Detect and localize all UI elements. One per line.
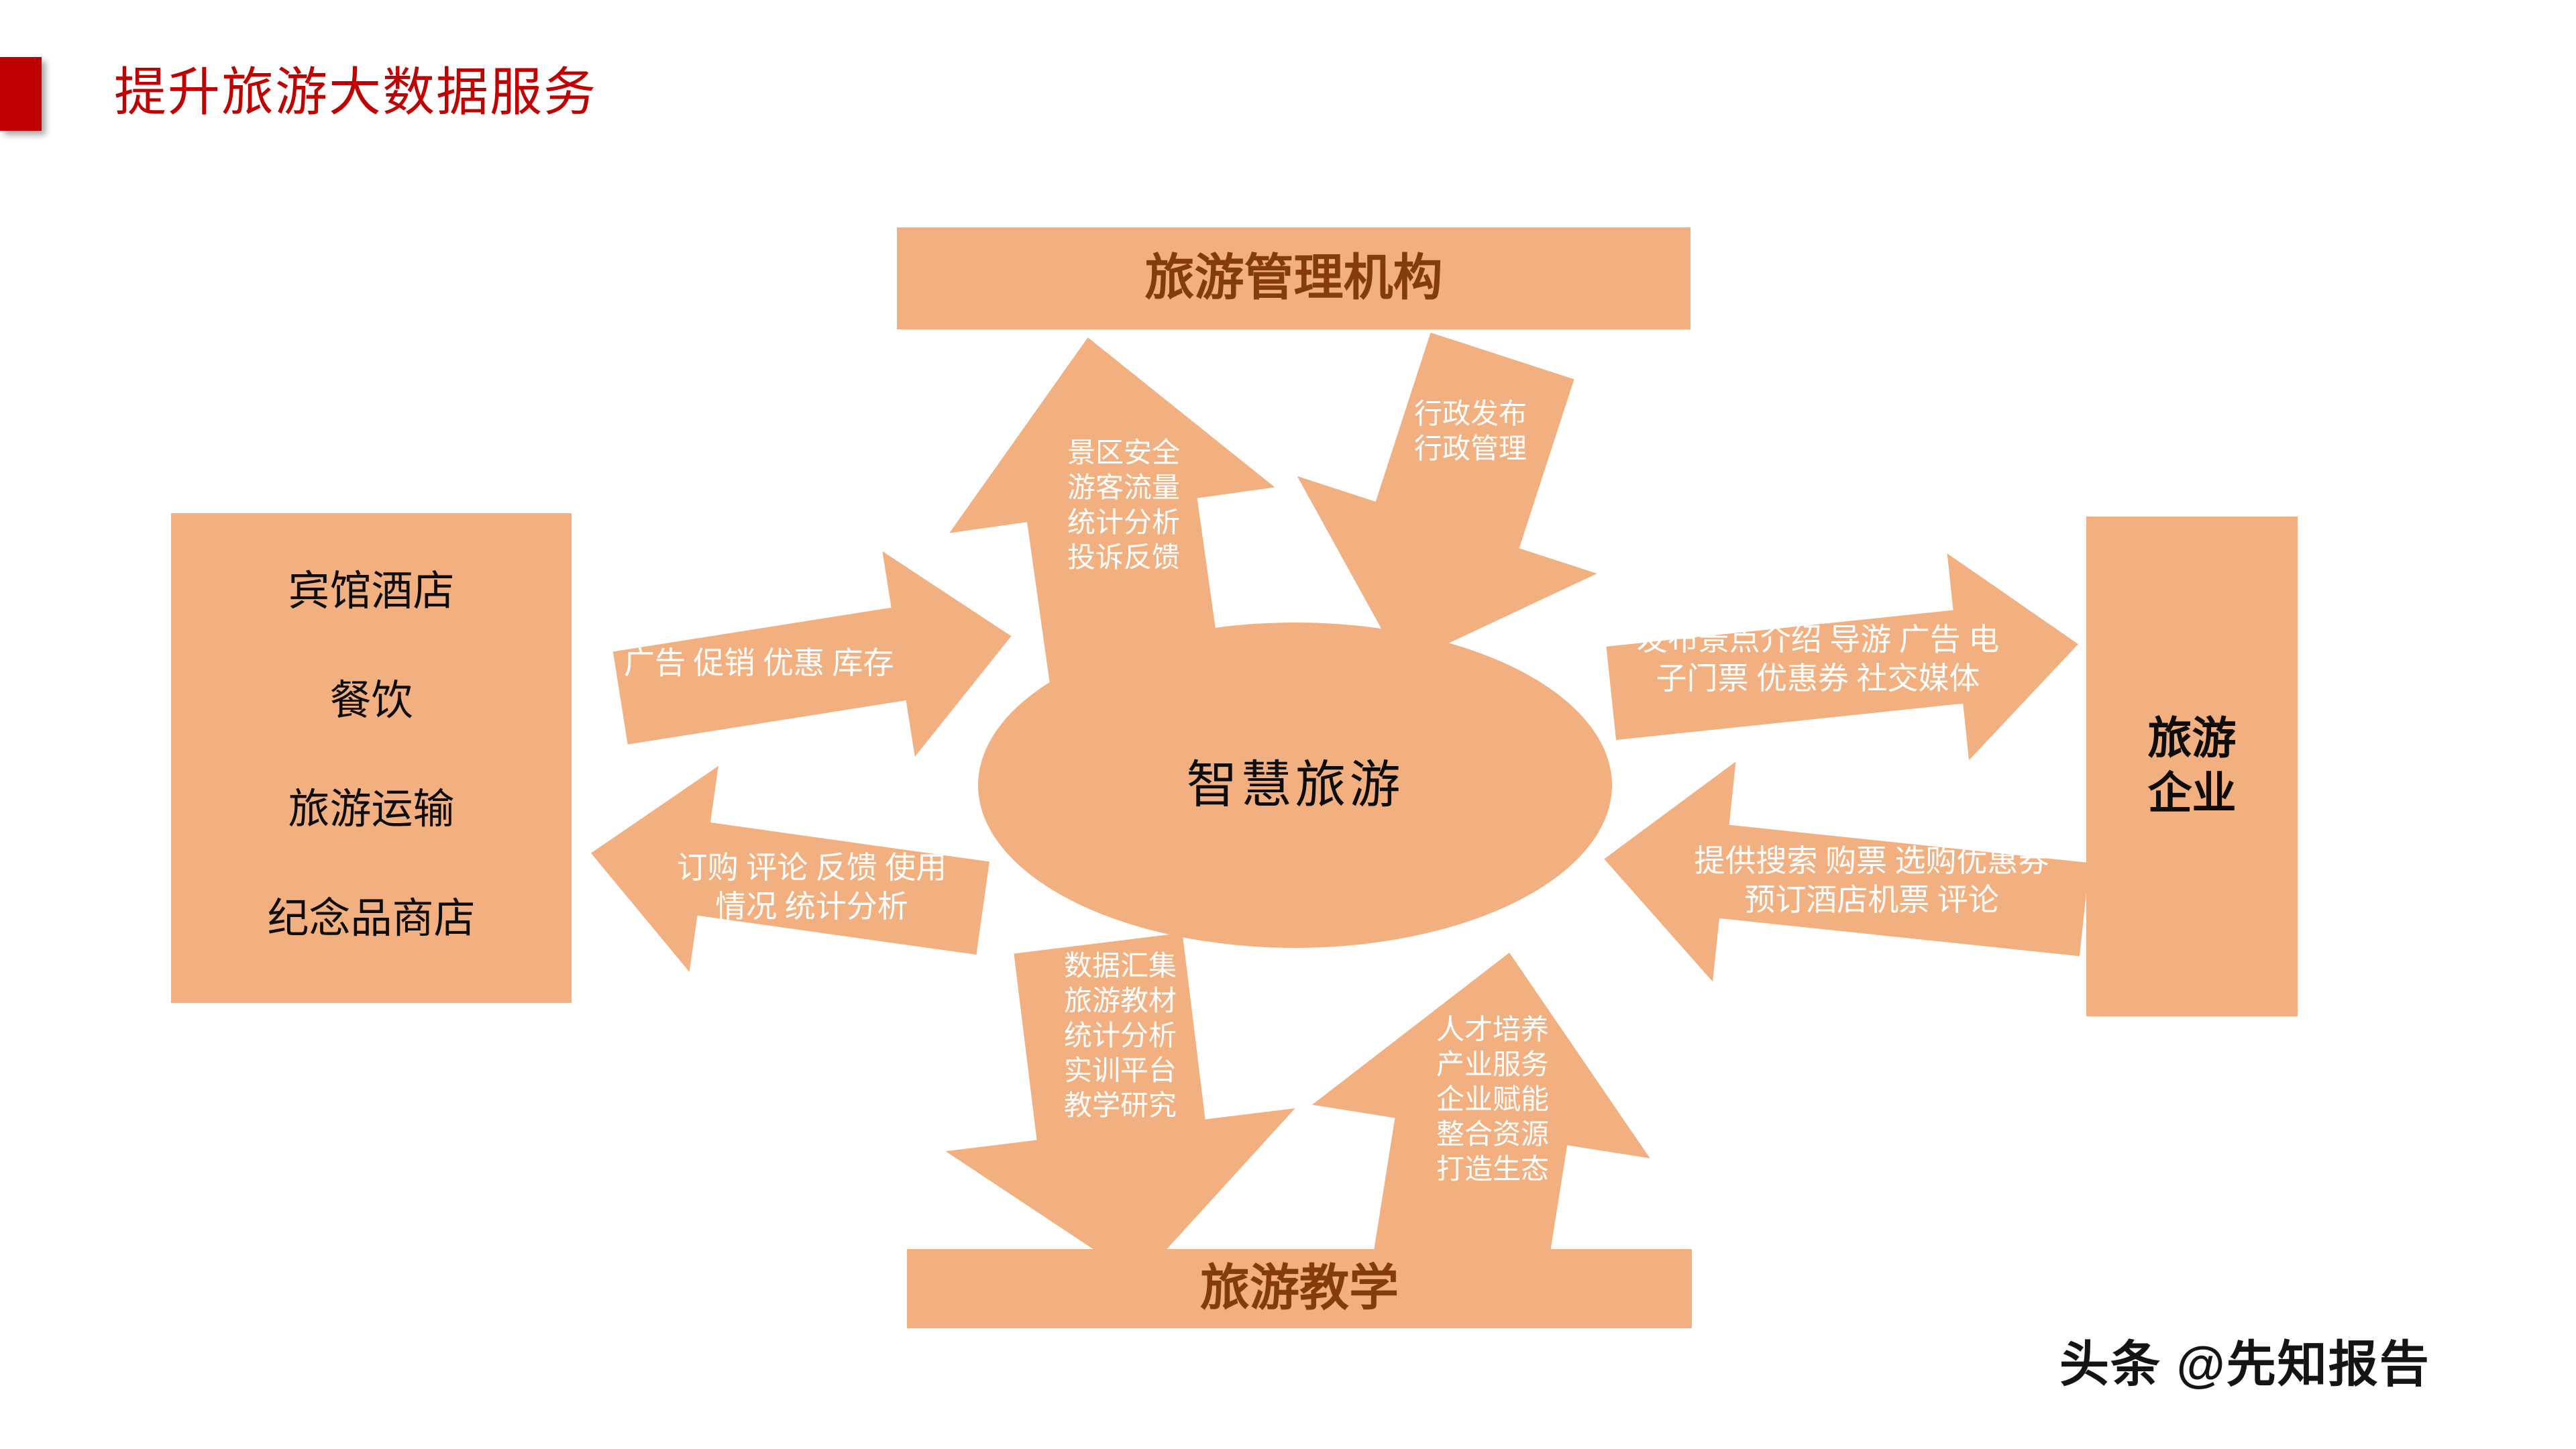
title-accent-marker [0, 57, 42, 131]
watermark-text: 头条 @先知报告 [2059, 1334, 2430, 1395]
arrow-label-up-to-management: 景区安全 游客流量 统计分析 投诉反馈 [1036, 436, 1211, 576]
arrow-label-up-from-education: 人才培养 产业服务 企业赋能 整合资源 打造生态 [1415, 1013, 1570, 1187]
node-left-item-2: 旅游运输 [288, 786, 454, 834]
node-left-item-1: 餐饮 [329, 677, 413, 725]
node-right-label-line1: 旅游 [2148, 712, 2237, 767]
page-title: 提升旅游大数据服务 [114, 59, 597, 126]
hub-label: 智慧旅游 [1187, 755, 1404, 816]
node-tourism-education[interactable]: 旅游教学 [907, 1249, 1692, 1328]
arrow-label-down-from-management: 行政发布 行政管理 [1377, 397, 1564, 467]
arrow-label-down-to-education: 数据汇集 旅游教材 统计分析 实训平台 教学研究 [1036, 949, 1204, 1124]
node-tourism-suppliers[interactable]: 宾馆酒店 餐饮 旅游运输 纪念品商店 [171, 513, 572, 1003]
arrow-label-left-to-suppliers: 订购 评论 反馈 使用 情况 统计分析 [657, 849, 966, 926]
node-left-item-0: 宾馆酒店 [288, 568, 454, 616]
node-right-label-line2: 企业 [2148, 767, 2237, 822]
node-top-label: 旅游管理机构 [1145, 248, 1443, 309]
node-tourism-enterprise[interactable]: 旅游 企业 [2086, 517, 2298, 1016]
node-tourism-management-agency[interactable]: 旅游管理机构 [897, 227, 1690, 329]
arrow-label-right-to-enterprise: 发布景点介绍 导游 广告 电 子门票 优惠券 社交媒体 [1623, 621, 2012, 698]
node-left-item-3: 纪念品商店 [267, 895, 475, 943]
arrow-label-left-from-enterprise: 提供搜索 购票 选购优惠券 预订酒店机票 评论 [1670, 842, 2073, 920]
arrow-label-right-from-suppliers: 广告 促销 优惠 库存 [624, 644, 973, 683]
hub-smart-tourism[interactable]: 智慧旅游 [978, 623, 1612, 948]
node-bottom-label: 旅游教学 [1200, 1258, 1399, 1320]
